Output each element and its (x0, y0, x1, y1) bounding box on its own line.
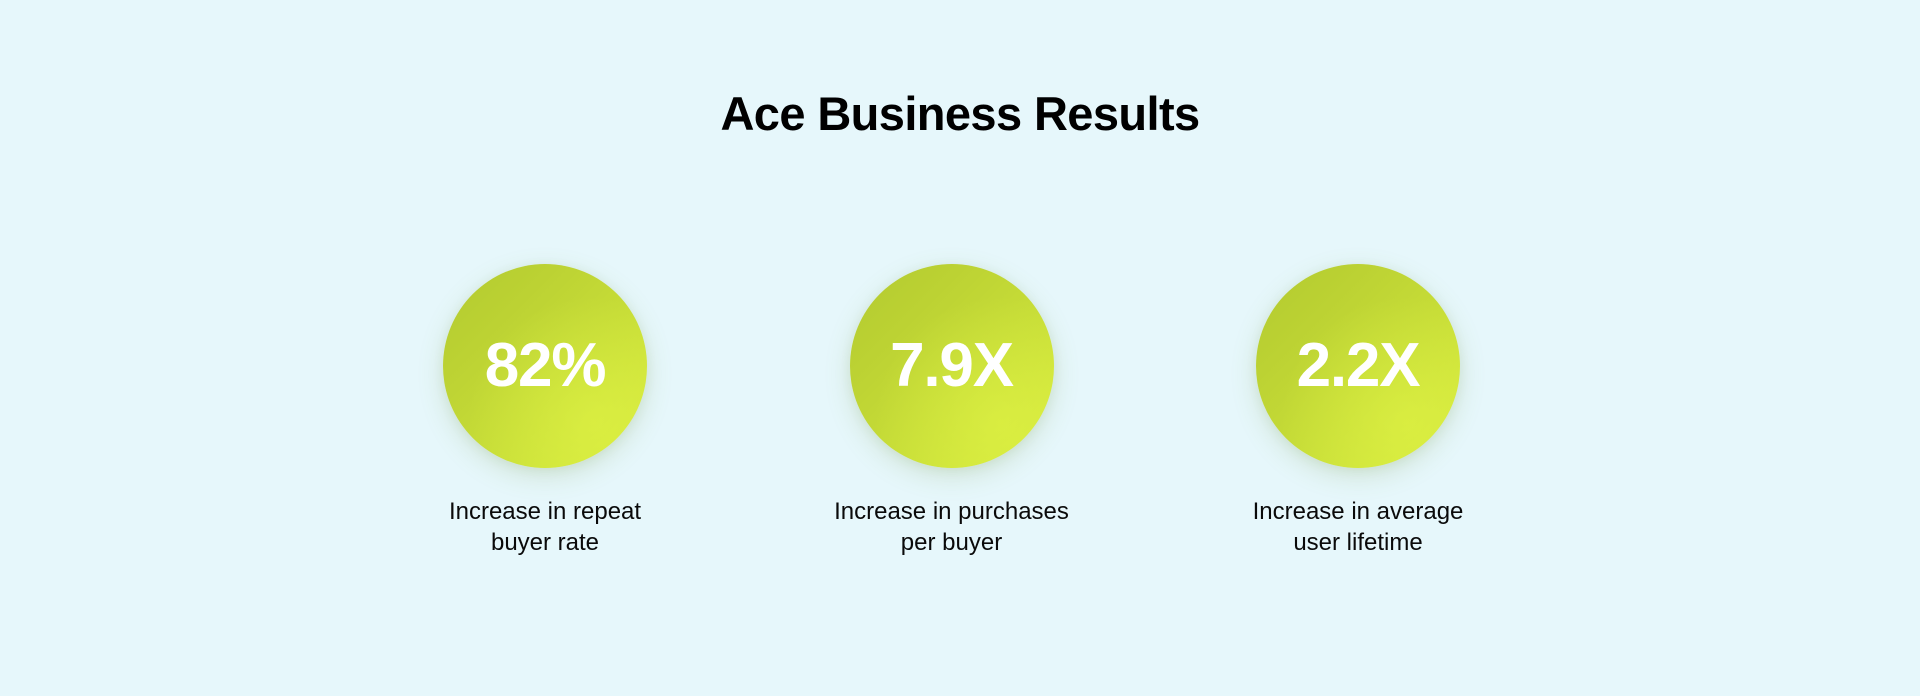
stat-item-average-user-lifetime: 2.2X Increase in average user lifetime (1256, 264, 1460, 558)
page-title: Ace Business Results (0, 86, 1920, 142)
stat-value: 7.9X (890, 335, 1013, 397)
stat-circle: 82% (443, 264, 647, 468)
stat-caption: Increase in repeat buyer rate (415, 496, 675, 558)
stat-value: 82% (485, 335, 606, 397)
stats-row: 82% Increase in repeat buyer rate 7.9X I… (443, 264, 1460, 558)
stat-value: 2.2X (1297, 335, 1420, 397)
stat-caption-line-1: Increase in average (1228, 496, 1488, 527)
stat-caption-line-2: per buyer (822, 527, 1082, 558)
stat-caption-line-2: buyer rate (415, 527, 675, 558)
stat-caption-line-1: Increase in purchases (822, 496, 1082, 527)
stat-caption: Increase in purchases per buyer (822, 496, 1082, 558)
stat-circle: 7.9X (850, 264, 1054, 468)
stat-caption-line-1: Increase in repeat (415, 496, 675, 527)
stat-caption-line-2: user lifetime (1228, 527, 1488, 558)
stat-circle: 2.2X (1256, 264, 1460, 468)
stat-item-repeat-buyer-rate: 82% Increase in repeat buyer rate (443, 264, 647, 558)
stat-caption: Increase in average user lifetime (1228, 496, 1488, 558)
business-results-section: Ace Business Results 82% Increase in rep… (0, 0, 1920, 696)
stat-item-purchases-per-buyer: 7.9X Increase in purchases per buyer (850, 264, 1054, 558)
